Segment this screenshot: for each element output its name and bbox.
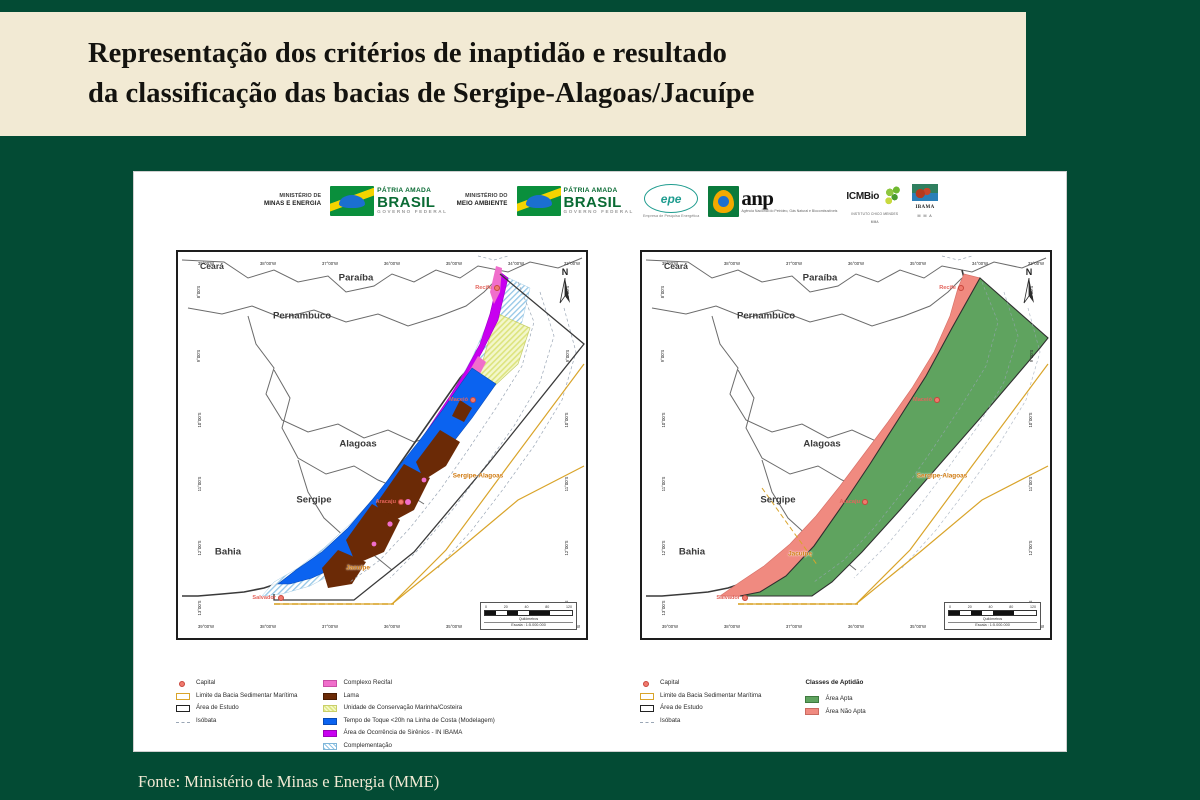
lat-tick-5: 13°00'S: [197, 601, 202, 616]
sb-tick-1: 20: [504, 605, 508, 609]
legend-label-limite-bacia: Limite da Bacia Sedimentar Marítima: [196, 693, 297, 699]
lat-tick-0: 8°00'S: [196, 286, 201, 299]
legend-criterios: Capital Limite da Bacia Sedimentar Marít…: [176, 680, 616, 750]
r-sb-tick-0: 0: [949, 605, 951, 609]
r-capital-dot-maceio: [934, 397, 940, 403]
logo-icmbio: ICMBio INSTITUTO CHICO MENDES MMA: [846, 184, 903, 218]
r-limite-bacia-swatch-icon: [640, 693, 654, 700]
page-title-line-1: Representação dos critérios de inaptidão…: [88, 34, 1026, 74]
isobata-swatch-icon: [176, 722, 190, 723]
area-apta-swatch-icon: [805, 696, 819, 703]
r-legend-label-isobata: Isóbata: [660, 718, 680, 724]
sb-bar: [484, 610, 573, 616]
r-lon-tick-bot-0: 39°00'W: [662, 624, 678, 629]
map-graphic-left: [178, 252, 586, 638]
tempo-toque-swatch-icon: [323, 718, 337, 725]
r-state-label-ceara: Ceará: [664, 261, 688, 271]
ibama-subtitle: M M A: [917, 214, 932, 218]
legend-label-lama: Lama: [343, 693, 358, 699]
map-graphic-right: [642, 252, 1050, 638]
r-sb-tick-4: 120: [1030, 605, 1036, 609]
mme-line1: MINISTÉRIO DE: [264, 193, 321, 201]
r-sb-tick-2: 40: [989, 605, 993, 609]
lat-tick-4: 12°00'S: [197, 541, 202, 556]
lon-tick-1: 38°00'W: [260, 261, 276, 266]
state-label-ceara: Ceará: [200, 261, 224, 271]
state-label-pernambuco: Pernambuco: [273, 311, 331, 322]
logo-epe: epe Empresa de Pesquisa Energética: [643, 184, 699, 218]
lon-tick-bot-4: 35°00'W: [446, 624, 462, 629]
lon-tick-bot-1: 38°00'W: [260, 624, 276, 629]
r-legend-item-isobata: Isóbata: [640, 718, 761, 724]
basin-label-jacuipe: Jacuípe: [346, 565, 370, 572]
brazil-flag-icon-2: [517, 186, 561, 216]
legend-item-capital: Capital: [176, 680, 297, 687]
r-lat-tick-1: 9°00'S: [660, 350, 665, 363]
logo-patria-amada-brasil-2: PÁTRIA AMADA BRASIL GOVERNO FEDERAL: [517, 184, 634, 218]
map-panel-classificacao: 39°00'W 38°00'W 37°00'W 36°00'W 35°00'W …: [612, 230, 1072, 685]
r-capital-swatch-icon: [640, 680, 654, 687]
r-state-label-bahia: Bahia: [679, 547, 705, 558]
r-state-label-sergipe: Sergipe: [760, 495, 795, 506]
r-lon-tick-3: 36°00'W: [848, 261, 864, 266]
legend-label-sirenios: Área de Ocorrência de Sirênios - IN IBAM…: [343, 730, 462, 736]
r-state-label-paraiba: Paraíba: [803, 273, 838, 284]
capital-dot-maceio: [470, 397, 476, 403]
pab1-line2: BRASIL: [377, 195, 447, 210]
legend-item-area-estudo: Área de Estudo: [176, 705, 297, 712]
legend-item-sirenios: Área de Ocorrência de Sirênios - IN IBAM…: [323, 730, 494, 737]
legend-item-area-nao-apta: Área Não Apta: [805, 708, 865, 715]
leaf-icon: [881, 184, 903, 208]
legend-item-unidade-conservacao: Unidade de Conservação Marinha/Costeira: [323, 705, 494, 712]
lat-tick-r-2: 10°00'S: [564, 413, 569, 428]
logo-bar: MINISTÉRIO DE MINAS E ENERGIA PÁTRIA AMA…: [134, 172, 1068, 230]
mma-line2: MEIO AMBIENTE: [457, 200, 508, 209]
legend-label-area-apta: Área Apta: [825, 696, 852, 702]
legend-right-column-1: Capital Limite da Bacia Sedimentar Marít…: [640, 680, 761, 724]
r-lon-tick-1: 38°00'W: [724, 261, 740, 266]
legend-item-area-apta: Área Apta: [805, 696, 865, 703]
sirenios-swatch-icon: [323, 730, 337, 737]
r-basin-label-jacuipe: Jacuípe: [788, 551, 812, 558]
logo-ministerio-meio-ambiente: MINISTÉRIO DO MEIO AMBIENTE: [457, 184, 508, 218]
sb-tick-0: 0: [485, 605, 487, 609]
north-arrow-icon-right: [1022, 278, 1036, 304]
pab1-line3: GOVERNO FEDERAL: [377, 210, 447, 215]
r-capital-label-aracaju: Aracaju: [839, 499, 860, 505]
legend-right-column-2: Classes de Aptidão Área Apta Área Não Ap…: [805, 680, 865, 724]
legend-label-complexo-recifal: Complexo Recifal: [343, 680, 392, 686]
complementacao-swatch-icon: [323, 743, 337, 750]
capital-label-maceio: Maceió: [449, 397, 468, 403]
lat-tick-2: 10°00'S: [197, 413, 202, 428]
north-arrow-left: N: [556, 268, 574, 309]
r-lon-tick-bot-4: 35°00'W: [910, 624, 926, 629]
r-lat-tick-r-1: 9°00'S: [1029, 350, 1034, 363]
lon-tick-5: 34°00'W: [508, 261, 524, 266]
logo-anp: anp Agência Nacional do Petróleo, Gás Na…: [708, 184, 837, 218]
r-capital-label-maceio: Maceió: [913, 397, 932, 403]
sb-tick-4: 120: [566, 605, 572, 609]
legend-left-column-1: Capital Limite da Bacia Sedimentar Marít…: [176, 680, 297, 750]
area-estudo-swatch-icon: [176, 705, 190, 712]
state-label-alagoas: Alagoas: [339, 439, 376, 450]
mma-line1: MINISTÉRIO DO: [457, 193, 508, 201]
r-sb-tick-1: 20: [968, 605, 972, 609]
r-lon-tick-4: 35°00'W: [910, 261, 926, 266]
north-label: N: [556, 268, 574, 277]
r-lat-tick-5: 13°00'S: [661, 601, 666, 616]
title-band: Representação dos critérios de inaptidão…: [0, 12, 1026, 136]
capital-dot-recife: [494, 285, 500, 291]
r-lat-tick-3: 11°00'S: [661, 477, 666, 492]
r-north-label: N: [1020, 268, 1038, 277]
r-capital-label-recife: Recife: [939, 285, 956, 291]
r-lat-tick-2: 10°00'S: [661, 413, 666, 428]
r-sb-tick-3: 80: [1009, 605, 1013, 609]
ibama-wordmark: IBAMA: [915, 205, 934, 210]
map-panel-criterios: 39°00'W 38°00'W 37°00'W 36°00'W 35°00'W …: [148, 230, 608, 685]
r-legend-label-area-estudo: Área de Estudo: [660, 705, 703, 711]
lon-tick-6: 33°00'W: [564, 261, 580, 266]
legend-label-area-estudo: Área de Estudo: [196, 705, 239, 711]
r-legend-label-limite-bacia: Limite da Bacia Sedimentar Marítima: [660, 693, 761, 699]
north-arrow-icon: [558, 278, 572, 304]
r-lon-tick-2: 37°00'W: [786, 261, 802, 266]
legend-item-lama: Lama: [323, 693, 494, 700]
r-legend-item-limite-bacia: Limite da Bacia Sedimentar Marítima: [640, 693, 761, 700]
legend-item-tempo-toque: Tempo de Toque <20h na Linha de Costa (M…: [323, 718, 494, 725]
r-state-label-alagoas: Alagoas: [803, 439, 840, 450]
brazil-flag-icon: [330, 186, 374, 216]
sb-tick-2: 40: [525, 605, 529, 609]
lat-tick-3: 11°00'S: [197, 477, 202, 492]
pab2-line2: BRASIL: [564, 195, 634, 210]
legend-label-area-nao-apta: Área Não Apta: [825, 709, 865, 715]
lat-tick-r-3: 11°00'S: [564, 477, 569, 492]
anp-wordmark: anp: [741, 188, 837, 209]
area-nao-apta-swatch-icon: [805, 708, 819, 715]
legend-item-isobata: Isóbata: [176, 718, 297, 724]
sb-scale: Escala : 1:5.000.000: [484, 622, 573, 628]
lon-tick-bot-3: 36°00'W: [384, 624, 400, 629]
mme-line2: MINAS E ENERGIA: [264, 200, 321, 209]
r-lon-tick-6: 33°00'W: [1028, 261, 1044, 266]
anp-subtitle: Agência Nacional do Petróleo, Gás Natura…: [741, 209, 837, 214]
state-label-bahia: Bahia: [215, 547, 241, 558]
r-sb-bar: [948, 610, 1037, 616]
capital-swatch-icon: [176, 680, 190, 687]
logo-ibama: IBAMA M M A: [912, 184, 938, 218]
scalebar-right: 0 20 40 80 120 Quilômetros Escala : 1:5.…: [944, 602, 1041, 631]
source-footer: Fonte: Ministério de Minas e Energia (MM…: [138, 772, 439, 792]
lat-tick-r-4: 12°00'S: [564, 541, 569, 556]
icmbio-wordmark: ICMBio: [846, 191, 879, 202]
r-lat-tick-r-3: 11°00'S: [1028, 477, 1033, 492]
legend-classificacao: Capital Limite da Bacia Sedimentar Marít…: [640, 680, 1060, 724]
r-sb-scale: Escala : 1:5.000.000: [948, 622, 1037, 628]
r-basin-label-sergipe-alagoas: Sergipe-Alagoas: [917, 473, 967, 480]
r-lon-tick-bot-3: 36°00'W: [848, 624, 864, 629]
r-legend-label-capital: Capital: [660, 680, 679, 686]
sb-unit: Quilômetros: [484, 617, 573, 621]
capital-label-salvador: Salvador: [252, 595, 276, 601]
r-capital-dot-aracaju: [862, 499, 868, 505]
r-lat-tick-r-4: 12°00'S: [1028, 541, 1033, 556]
r-capital-label-salvador: Salvador: [716, 595, 740, 601]
lat-tick-r-1: 9°00'S: [565, 350, 570, 363]
legend-label-unidade-conservacao: Unidade de Conservação Marinha/Costeira: [343, 705, 462, 711]
state-label-sergipe: Sergipe: [296, 495, 331, 506]
legend-label-capital: Capital: [196, 680, 215, 686]
lat-tick-1: 9°00'S: [196, 350, 201, 363]
r-lon-tick-5: 34°00'W: [972, 261, 988, 266]
logo-patria-amada-brasil-1: PÁTRIA AMADA BRASIL GOVERNO FEDERAL: [330, 184, 447, 218]
anp-mark-icon: [708, 186, 739, 217]
legend-left-column-2: Complexo Recifal Lama Unidade de Conserv…: [323, 680, 494, 750]
pab2-line3: GOVERNO FEDERAL: [564, 210, 634, 215]
basin-label-sergipe-alagoas: Sergipe-Alagoas: [453, 473, 503, 480]
capital-dot-aracaju: [398, 499, 404, 505]
lon-tick-bot-0: 39°00'W: [198, 624, 214, 629]
r-state-label-pernambuco: Pernambuco: [737, 311, 795, 322]
north-arrow-right: N: [1020, 268, 1038, 309]
r-capital-dot-salvador: [742, 595, 748, 601]
legend-label-complementacao: Complementação: [343, 743, 392, 749]
epe-icon: epe: [644, 184, 698, 213]
r-legend-item-capital: Capital: [640, 680, 761, 687]
r-lon-tick-bot-2: 37°00'W: [786, 624, 802, 629]
r-area-estudo-swatch-icon: [640, 705, 654, 712]
page-title-line-2: da classificação das bacias de Sergipe-A…: [88, 74, 1026, 114]
r-sb-unit: Quilômetros: [948, 617, 1037, 621]
epe-subtitle: Empresa de Pesquisa Energética: [643, 214, 699, 218]
capital-label-aracaju: Aracaju: [375, 499, 396, 505]
logo-ministerio-minas-energia: MINISTÉRIO DE MINAS E ENERGIA: [264, 184, 321, 218]
icmbio-mma: MMA: [871, 220, 879, 224]
limite-bacia-swatch-icon: [176, 693, 190, 700]
scalebar-left: 0 20 40 80 120 Quilômetros Escala : 1:5.…: [480, 602, 577, 631]
r-lat-tick-r-2: 10°00'S: [1028, 413, 1033, 428]
icmbio-subtitle: INSTITUTO CHICO MENDES: [851, 212, 898, 216]
lon-tick-2: 37°00'W: [322, 261, 338, 266]
sb-tick-3: 80: [545, 605, 549, 609]
legend-item-complexo-recifal: Complexo Recifal: [323, 680, 494, 687]
lon-tick-4: 35°00'W: [446, 261, 462, 266]
r-legend-item-area-estudo: Área de Estudo: [640, 705, 761, 712]
r-capital-dot-recife: [958, 285, 964, 291]
legend-item-complementacao: Complementação: [323, 743, 494, 750]
ibama-mark-icon: [912, 184, 938, 201]
lon-tick-3: 36°00'W: [384, 261, 400, 266]
lon-tick-bot-2: 37°00'W: [322, 624, 338, 629]
capital-dot-salvador: [278, 595, 284, 601]
classes-aptidao-title: Classes de Aptidão: [805, 680, 865, 686]
map-frame-right: 39°00'W 38°00'W 37°00'W 36°00'W 35°00'W …: [640, 250, 1052, 640]
capital-label-recife: Recife: [475, 285, 492, 291]
complexo-recifal-swatch-icon: [323, 680, 337, 687]
state-label-paraiba: Paraíba: [339, 273, 374, 284]
legend-label-isobata: Isóbata: [196, 718, 216, 724]
map-frame-left: 39°00'W 38°00'W 37°00'W 36°00'W 35°00'W …: [176, 250, 588, 640]
r-isobata-swatch-icon: [640, 722, 654, 723]
r-lat-tick-0: 8°00'S: [660, 286, 665, 299]
unidade-conservacao-swatch-icon: [323, 705, 337, 712]
figure-card: MINISTÉRIO DE MINAS E ENERGIA PÁTRIA AMA…: [133, 171, 1067, 752]
legend-item-limite-bacia: Limite da Bacia Sedimentar Marítima: [176, 693, 297, 700]
r-lat-tick-4: 12°00'S: [661, 541, 666, 556]
r-lon-tick-bot-1: 38°00'W: [724, 624, 740, 629]
legend-label-tempo-toque: Tempo de Toque <20h na Linha de Costa (M…: [343, 718, 494, 724]
lama-swatch-icon: [323, 693, 337, 700]
